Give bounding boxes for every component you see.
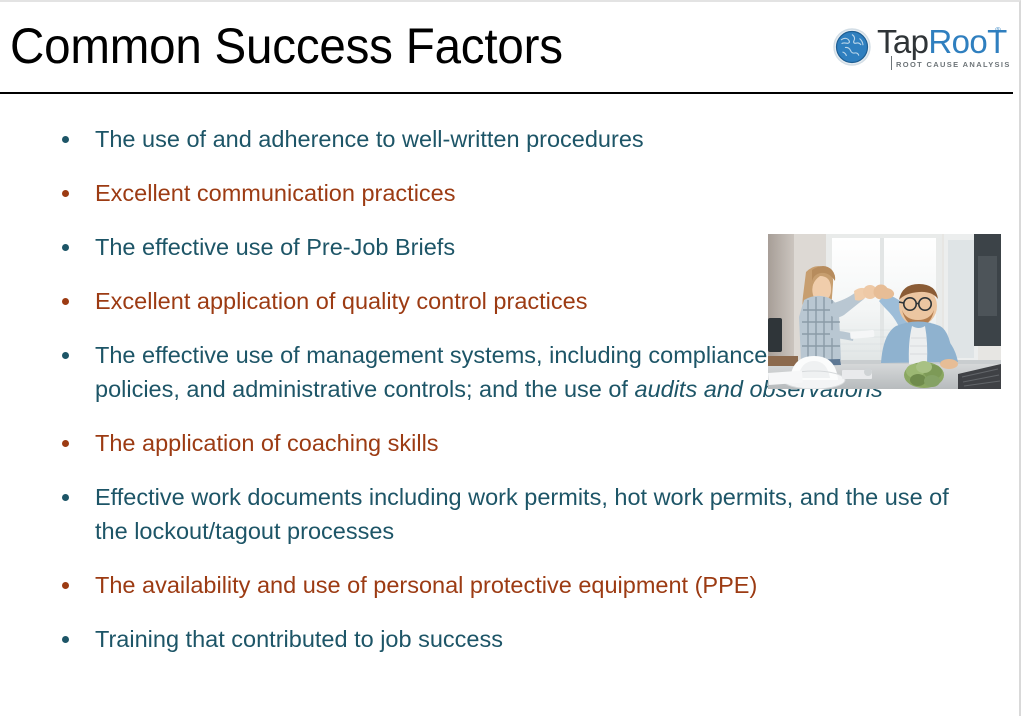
bullet-dot-icon <box>62 440 69 447</box>
slide-body: The use of and adherence to well-written… <box>0 94 1013 716</box>
logo-wordmark: TapRooT ® ROOT CAUSE ANALYSIS <box>877 24 1005 76</box>
slide-header: Common Success Factors <box>0 2 1013 92</box>
bullet-dot-icon <box>62 494 69 501</box>
bullet-dot-icon <box>62 636 69 643</box>
registered-trademark-icon: ® <box>995 26 1001 35</box>
globe-icon <box>833 28 871 66</box>
bullet-dot-icon <box>62 582 69 589</box>
page-title: Common Success Factors <box>10 17 563 75</box>
bullet-dot-icon <box>62 136 69 143</box>
logo-word-tap: Tap <box>877 23 928 60</box>
bullet-dot-icon <box>62 190 69 197</box>
list-item-label: Effective work documents including work … <box>95 480 986 548</box>
list-item-label: The effective use of Pre-Job Briefs <box>95 230 795 264</box>
bullet-dot-icon <box>62 244 69 251</box>
bullet-dot-icon <box>62 298 69 305</box>
list-item: Excellent communication practices <box>56 176 795 210</box>
list-item-label: The application of coaching skills <box>95 426 986 460</box>
list-item-label: Training that contributed to job success <box>95 622 986 656</box>
list-item: The availability and use of personal pro… <box>56 568 986 602</box>
list-item-label: The availability and use of personal pro… <box>95 568 986 602</box>
teamwork-fist-bump-photo <box>768 234 1001 389</box>
list-item-label: Excellent communication practices <box>95 176 795 210</box>
list-item: Training that contributed to job success <box>56 622 986 656</box>
list-item: The use of and adherence to well-written… <box>56 122 795 156</box>
slide: Common Success Factors <box>0 0 1021 716</box>
list-item-label: The use of and adherence to well-written… <box>95 122 795 156</box>
logo-tagline: ROOT CAUSE ANALYSIS <box>896 60 1011 69</box>
list-item: The application of coaching skills <box>56 426 986 460</box>
list-item: The effective use of Pre-Job Briefs <box>56 230 795 264</box>
bullet-list: The use of and adherence to well-written… <box>56 122 986 656</box>
taproot-logo: TapRooT ® ROOT CAUSE ANALYSIS <box>833 24 1005 76</box>
bullet-dot-icon <box>62 352 69 359</box>
logo-word: TapRooT <box>877 25 1007 59</box>
list-item: Effective work documents including work … <box>56 480 986 548</box>
logo-divider <box>891 56 892 70</box>
